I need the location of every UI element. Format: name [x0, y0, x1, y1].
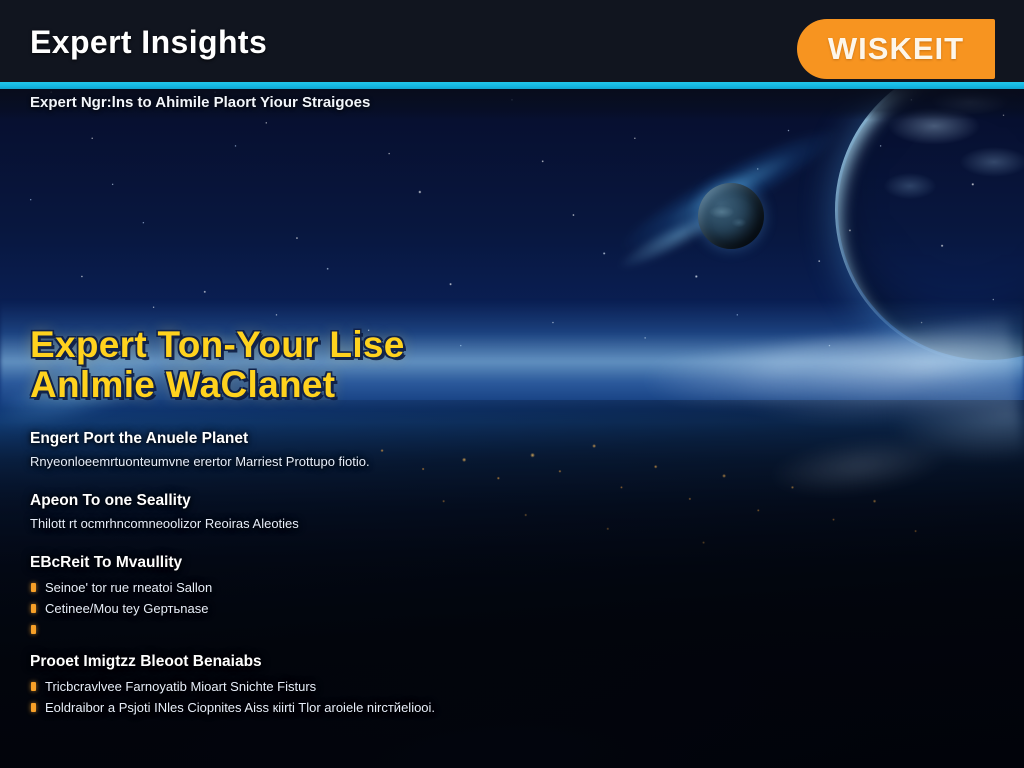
- section-body: Thilott rt ocmrhncomneoolizor Reoiras Al…: [30, 515, 590, 532]
- brand-logo-text: WISKEIT: [828, 31, 964, 67]
- list-item: Seinoe' tor rue rneatoi Sallon: [30, 577, 590, 598]
- section-heading: EBcReit To Mvaullity: [30, 554, 590, 572]
- list-item: Cetineе/Mou tey Geртьnase: [30, 598, 590, 619]
- slide-canvas: Expert Insights WISKEIT Expert Ngr:lns t…: [0, 0, 1024, 768]
- hero-headline-line-2: Anlmie WaClanet: [30, 365, 550, 405]
- list-item-label: Eoldraibor a Psjoti INles Ciopnites Aiss…: [45, 700, 435, 715]
- list-item: [30, 619, 590, 631]
- hero-headline-line-1: Expert Ton-Your Lise: [30, 325, 550, 365]
- bullet-marker-icon: [31, 604, 36, 613]
- list-item-label: Seinoe' tor rue rneatoi Sallon: [45, 580, 212, 595]
- bullet-marker-icon: [31, 703, 36, 712]
- content-section: EBcReit To Mvaullity Seinoe' tor rue rne…: [30, 554, 590, 631]
- slide-content: Expert Ton-Your Lise Anlmie WaClanet Eng…: [0, 120, 1024, 768]
- list-item-label: Tricbcravlvee Farnoyatib Mioart Snichte …: [45, 679, 316, 694]
- page-subtitle: Expert Ngr:lns to Ahimile Plaort Yiour S…: [30, 94, 370, 111]
- header-bar: Expert Insights WISKEIT: [0, 0, 1024, 82]
- accent-divider: [0, 82, 1024, 89]
- hero-headline: Expert Ton-Your Lise Anlmie WaClanet: [30, 325, 550, 405]
- section-list: Engert Port the Anuele Planet Rnyeonloee…: [30, 430, 590, 740]
- bullet-marker-icon: [31, 625, 36, 634]
- list-item: Eoldraibor a Psjoti INles Ciopnites Aiss…: [30, 697, 590, 718]
- list-item: Tricbcravlvee Farnoyatib Mioart Snichte …: [30, 676, 590, 697]
- brand-logo-badge[interactable]: WISKEIT: [797, 19, 995, 79]
- section-heading: Prooet Imigtzz Bleoot Benaiabs: [30, 653, 590, 671]
- bullet-list: Tricbcravlvee Farnoyatib Mioart Snichte …: [30, 676, 590, 718]
- bullet-marker-icon: [31, 682, 36, 691]
- content-section: Engert Port the Anuele Planet Rnyeonloee…: [30, 430, 590, 470]
- content-section: Prooet Imigtzz Bleoot Benaiabs Tricbcrav…: [30, 653, 590, 718]
- page-title: Expert Insights: [30, 24, 267, 61]
- bullet-list: Seinoe' tor rue rneatoi Sallon Cetineе/M…: [30, 577, 590, 631]
- bullet-marker-icon: [31, 583, 36, 592]
- list-item-label: Cetineе/Mou tey Geртьnase: [45, 601, 208, 616]
- content-section: Apeon To one Seallity Thilott rt ocmrhnc…: [30, 492, 590, 532]
- section-heading: Engert Port the Anuele Planet: [30, 430, 590, 448]
- section-body: Rnyeonloeemrtuonteumvne erertor Marriest…: [30, 453, 590, 470]
- section-heading: Apeon To one Seallity: [30, 492, 590, 510]
